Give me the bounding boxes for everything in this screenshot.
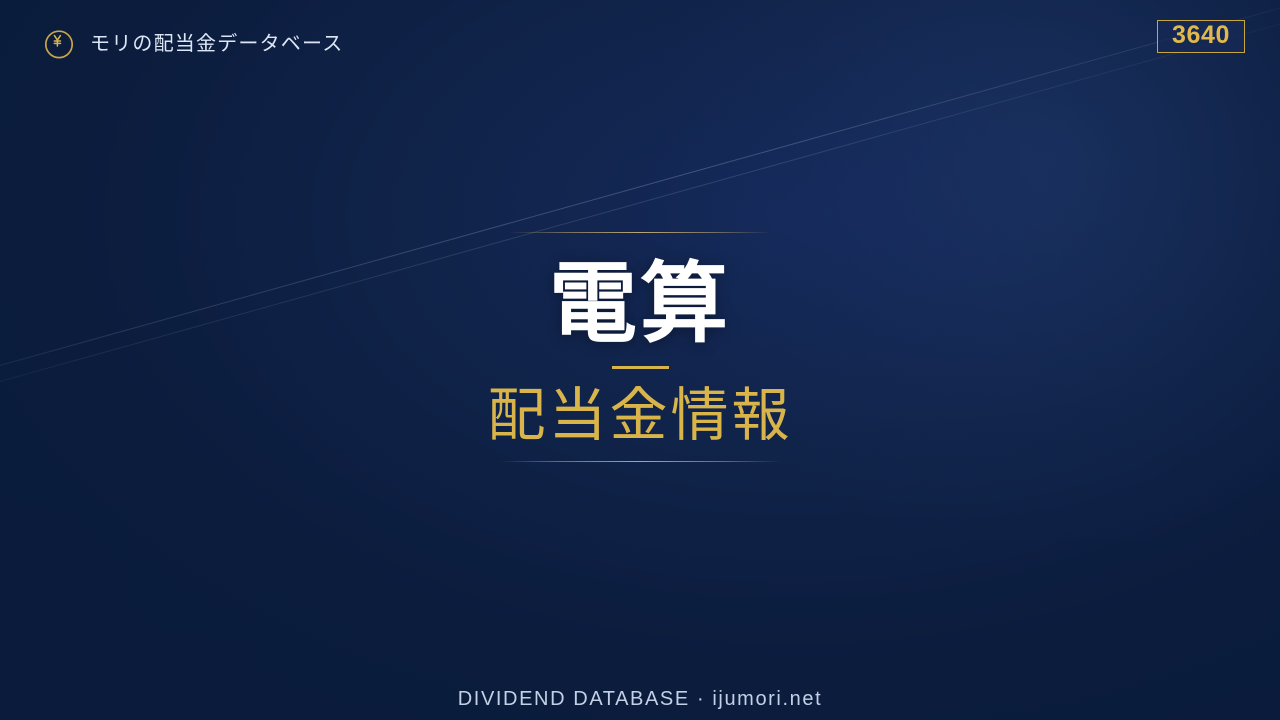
divider-bottom [500,461,781,462]
header: モリの配当金データベース 3640 [0,0,1280,90]
brand-name: モリの配当金データベース [90,32,343,54]
company-name: 電算 [549,259,731,349]
divider-gold [612,366,669,369]
page-subtitle: 配当金情報 [487,386,792,447]
title-slide: モリの配当金データベース 3640 電算 配当金情報 DIVIDEND DATA… [0,0,1280,720]
divider-top [509,232,771,233]
stock-code-badge: 3640 [1157,20,1245,53]
footer-credit: DIVIDEND DATABASE · ijumori.net [0,689,1280,709]
title-block: 電算 配当金情報 [0,232,1280,462]
yen-circle-icon [42,26,76,60]
brand[interactable]: モリの配当金データベース [42,26,343,60]
